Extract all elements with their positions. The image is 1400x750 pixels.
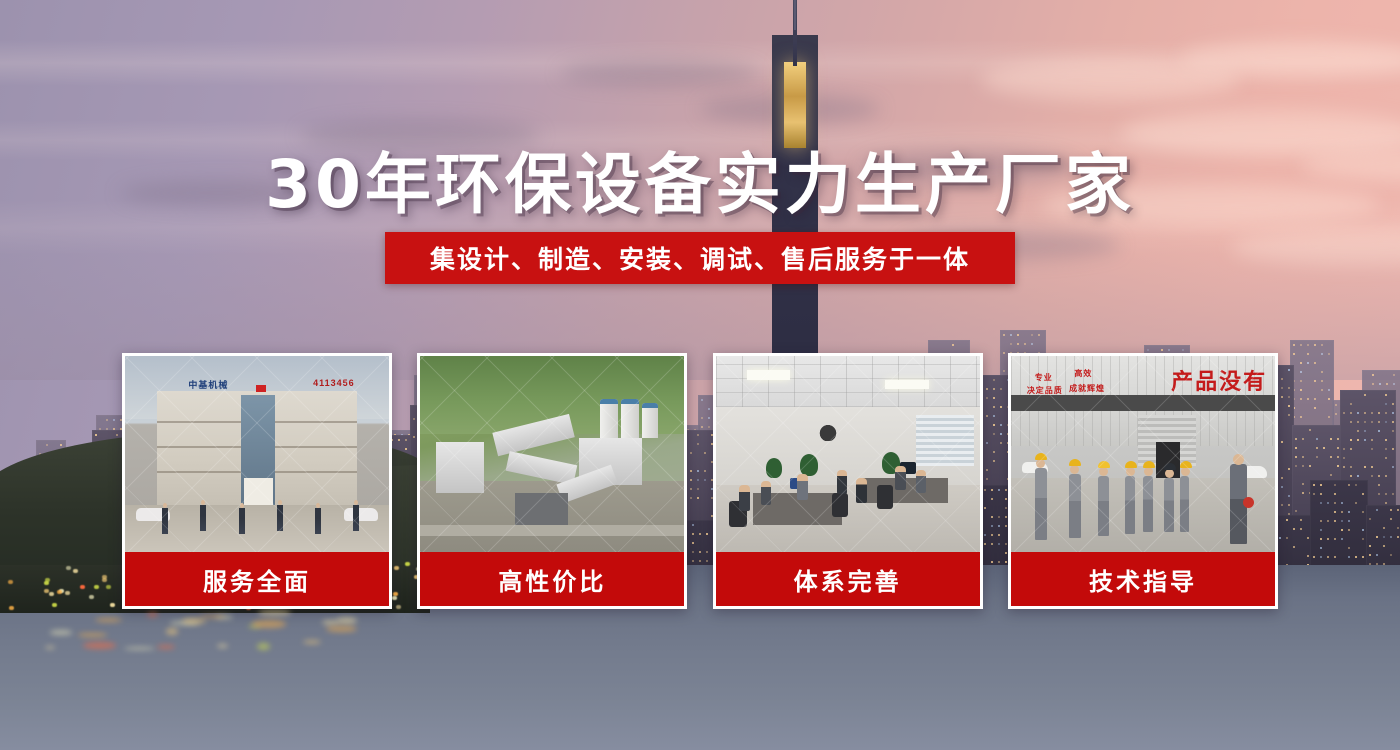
page-title: 30年环保设备实力生产厂家 bbox=[0, 131, 1400, 227]
office-chair bbox=[832, 493, 848, 517]
office-interior-photo bbox=[716, 356, 980, 552]
shore-light bbox=[102, 578, 107, 582]
factory-worker bbox=[1164, 478, 1174, 532]
potted-plant bbox=[800, 454, 818, 476]
factory-worker bbox=[1069, 474, 1081, 538]
feature-card-guidance[interactable]: 产品没有 专业 高效 决定品质 成就辉煌 技术指导 bbox=[1008, 353, 1278, 609]
wall-slogan-small: 专业 bbox=[1035, 372, 1053, 383]
water-reflection bbox=[83, 642, 116, 649]
wall-slogan-large: 产品没有 bbox=[1171, 364, 1267, 396]
factory-worker bbox=[1143, 476, 1153, 532]
shore-light bbox=[66, 566, 71, 570]
window-blinds bbox=[916, 415, 974, 466]
staff-member bbox=[200, 505, 206, 531]
worker-head bbox=[1165, 469, 1174, 478]
feature-card-service[interactable]: 中基机械 4113456 服务全面 bbox=[122, 353, 392, 609]
skyscraper-antenna bbox=[794, 0, 796, 30]
cloud bbox=[560, 60, 760, 86]
flag-icon bbox=[256, 385, 266, 392]
shore-light bbox=[52, 603, 57, 607]
factory-worker bbox=[1035, 468, 1047, 540]
office-chair bbox=[877, 485, 893, 509]
plant-road bbox=[420, 525, 684, 537]
headquarters-scene: 中基机械 4113456 bbox=[125, 356, 389, 552]
shore-light bbox=[8, 580, 13, 584]
staff-member bbox=[239, 508, 245, 534]
office-worker bbox=[797, 474, 808, 500]
warehouse-shed bbox=[515, 493, 568, 524]
feature-card-value[interactable]: 高性价比 bbox=[417, 353, 687, 609]
wall-window-band bbox=[1011, 395, 1275, 411]
worker-head bbox=[1181, 467, 1190, 476]
staff-member bbox=[162, 508, 168, 534]
shore-light bbox=[89, 595, 94, 599]
water-reflection bbox=[252, 620, 285, 627]
water-reflection bbox=[258, 609, 290, 617]
water-reflection bbox=[124, 647, 155, 650]
workers-training-photo: 产品没有 专业 高效 决定品质 成就辉煌 bbox=[1011, 356, 1275, 552]
ceiling bbox=[716, 356, 980, 407]
hard-hat-icon bbox=[1098, 461, 1110, 468]
worker-head bbox=[1099, 467, 1108, 476]
water-reflection bbox=[217, 644, 228, 648]
worker-head bbox=[1036, 459, 1045, 468]
water-reflection bbox=[78, 633, 107, 637]
water-reflection bbox=[45, 646, 55, 649]
office-worker bbox=[856, 478, 867, 503]
office-worker bbox=[916, 470, 926, 493]
water-reflection bbox=[95, 618, 122, 622]
shore-light bbox=[80, 585, 85, 589]
conveyor-bridge bbox=[506, 451, 577, 484]
feature-card-system[interactable]: 体系完善 bbox=[713, 353, 983, 609]
card-label-service: 服务全面 bbox=[125, 552, 389, 606]
water-reflection bbox=[166, 628, 178, 634]
storage-silo bbox=[642, 403, 658, 438]
staff-member bbox=[315, 508, 321, 534]
factory-worker bbox=[1098, 476, 1109, 536]
office-worker bbox=[739, 485, 750, 511]
factory-worker bbox=[1180, 476, 1189, 532]
potted-plant bbox=[766, 458, 782, 478]
wall-slogan-small: 高效 bbox=[1074, 368, 1092, 379]
factory-yard-scene: 产品没有 专业 高效 决定品质 成就辉煌 bbox=[1011, 356, 1275, 552]
shore-light bbox=[49, 592, 54, 596]
building-phone-text: 4113456 bbox=[313, 378, 355, 388]
feature-card-list: 中基机械 4113456 服务全面 bbox=[122, 353, 1278, 609]
shore-light bbox=[106, 585, 111, 589]
building-sign-text: 中基机械 bbox=[188, 378, 228, 391]
worker-head bbox=[1126, 467, 1135, 476]
promo-banner: 30年环保设备实力生产厂家 集设计、制造、安装、调试、售后服务于一体 bbox=[0, 0, 1400, 750]
company-headquarters-photo: 中基机械 4113456 bbox=[125, 356, 389, 552]
office-worker bbox=[761, 481, 771, 505]
storage-silo bbox=[600, 399, 618, 438]
hard-hat-icon bbox=[1125, 461, 1137, 468]
production-plant-aerial-photo bbox=[420, 356, 684, 552]
worker-head bbox=[1144, 467, 1153, 476]
hard-hat-icon bbox=[1069, 459, 1081, 466]
office-worker bbox=[837, 470, 847, 494]
office-scene bbox=[716, 356, 980, 552]
plant-aerial-scene bbox=[420, 356, 684, 552]
shore-light bbox=[9, 606, 14, 610]
card-label-value: 高性价比 bbox=[420, 552, 684, 606]
storage-silo bbox=[621, 399, 639, 438]
shore-light bbox=[57, 590, 62, 594]
shore-light bbox=[73, 569, 78, 573]
water-reflection bbox=[50, 630, 72, 634]
hard-hat-icon bbox=[1035, 453, 1047, 460]
staff-member bbox=[277, 505, 283, 531]
wall-slogan-small: 成就辉煌 bbox=[1069, 383, 1105, 394]
water-reflection bbox=[303, 640, 321, 644]
subtitle-banner: 集设计、制造、安装、调试、售后服务于一体 bbox=[385, 232, 1015, 284]
ceiling-light bbox=[747, 370, 789, 380]
supervisor-head bbox=[1233, 454, 1244, 465]
card-label-guidance: 技术指导 bbox=[1011, 552, 1275, 606]
worker-head bbox=[1070, 465, 1079, 474]
wall-decal bbox=[808, 415, 848, 441]
shore-light bbox=[44, 581, 49, 585]
subtitle-text: 集设计、制造、安装、调试、售后服务于一体 bbox=[430, 240, 970, 276]
staff-member bbox=[353, 505, 359, 531]
card-label-system: 体系完善 bbox=[716, 552, 980, 606]
factory-worker bbox=[1125, 476, 1136, 534]
ceiling-light bbox=[885, 380, 930, 390]
office-worker bbox=[895, 466, 906, 490]
plant-building bbox=[436, 442, 484, 493]
